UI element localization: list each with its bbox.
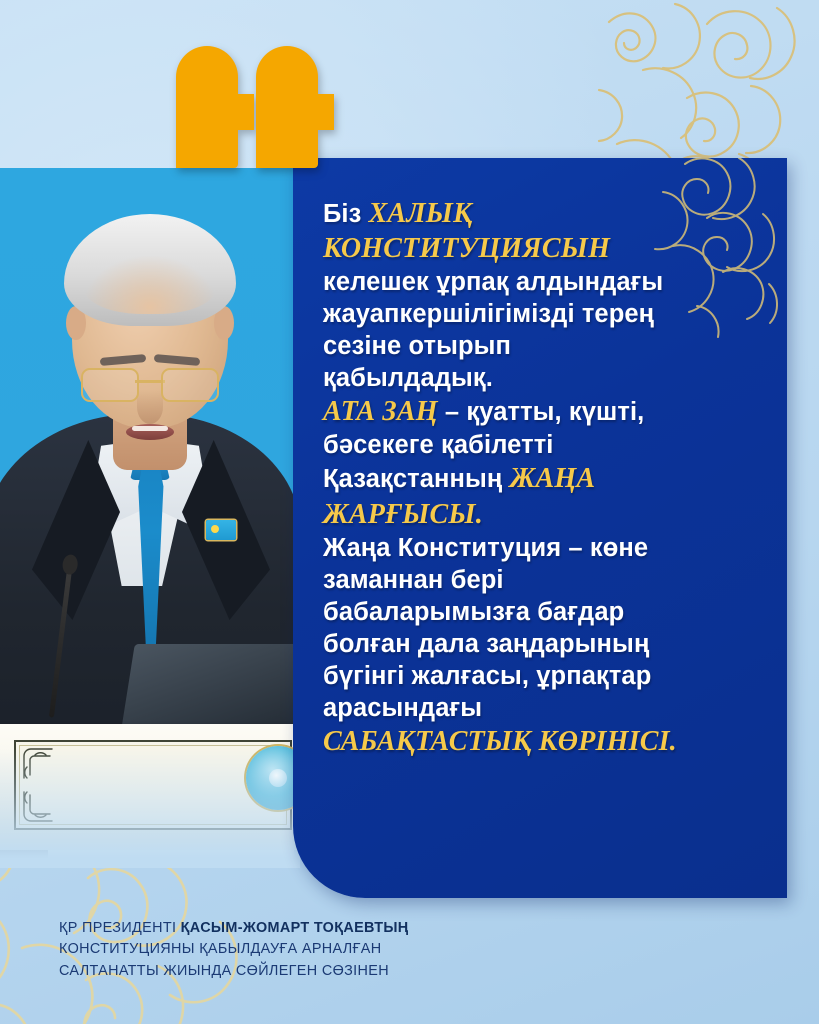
quote-line: заманнан бері	[323, 564, 761, 596]
caption-line-3: САЛТАНАТТЫ ЖИЫНДА СӨЙЛЕГЕН СӨЗІНЕН	[59, 961, 409, 982]
caption-line-2: КОНСТИТУЦИЯНЫ ҚАБЫЛДАУҒА АРНАЛҒАН	[59, 939, 409, 960]
quote-line: ЖАРҒЫСЫ.	[323, 497, 761, 532]
quote-segment: – қуатты, күшті,	[438, 398, 645, 426]
quote-segment-highlight: САБАҚТАСТЫҚ КӨРІНІСІ.	[323, 726, 677, 757]
quote-line: АТА ЗАҢ – қуатты, күшті,	[323, 394, 761, 429]
quote-line: жауапкершілігімізді терең	[323, 298, 761, 330]
eyeglasses-icon	[81, 368, 219, 402]
laptop-screen	[121, 644, 300, 730]
lens-right	[161, 368, 219, 402]
quote-line: бүгінгі жалғасы, ұрпақтар	[323, 660, 761, 692]
double-quote-icon	[176, 46, 322, 168]
attribution-caption: ҚР ПРЕЗИДЕНТІ ҚАСЫМ-ЖОМАРТ ТОҚАЕВТЫҢ КОН…	[59, 918, 409, 982]
eyebrow-left	[100, 354, 147, 366]
quote-line: арасындағы	[323, 692, 761, 724]
quote-notch-left	[220, 94, 254, 130]
quote-line: сезіне отырып	[323, 330, 761, 362]
quote-line: бәсекеге қабілетті	[323, 429, 761, 461]
quote-segment-highlight: КОНСТИТУЦИЯСЫН	[323, 233, 610, 264]
quote-line: келешек ұрпақ алдындағы	[323, 266, 761, 298]
quote-line: Қазақстанның ЖАҢА	[323, 461, 761, 496]
quote-segment: Жаңа Конституция – көне	[323, 534, 648, 562]
quote-line: қабылдадық.	[323, 362, 761, 394]
quote-panel: Біз ХАЛЫҚ КОНСТИТУЦИЯСЫН келешек ұрпақ а…	[293, 158, 787, 898]
quote-line: КОНСТИТУЦИЯСЫН	[323, 231, 761, 266]
quote-notch-right	[300, 94, 334, 130]
caption-role: ҚР ПРЕЗИДЕНТІ	[59, 920, 181, 936]
quote-line: Біз ХАЛЫҚ	[323, 196, 761, 231]
quote-segment: келешек ұрпақ алдындағы	[323, 268, 663, 296]
quote-segment: Біз	[323, 200, 369, 228]
eyebrow-right	[154, 354, 201, 366]
quote-segment-highlight: ЖАРҒЫСЫ.	[323, 499, 483, 530]
quote-segment: бүгінгі жалғасы, ұрпақтар	[323, 662, 651, 690]
quote-line: Жаңа Конституция – көне	[323, 532, 761, 564]
quote-segment-highlight: ЖАҢА	[510, 463, 596, 494]
caption-line-1: ҚР ПРЕЗИДЕНТІ ҚАСЫМ-ЖОМАРТ ТОҚАЕВТЫҢ	[59, 918, 409, 939]
quote-segment: арасындағы	[323, 694, 482, 722]
quote-segment: сезіне отырып	[323, 332, 511, 360]
quote-segment: Қазақстанның	[323, 465, 510, 493]
photo-bottom-fade	[0, 748, 300, 868]
quote-segment: заманнан бері	[323, 566, 504, 594]
quote-line: бабаларымызға бағдар	[323, 596, 761, 628]
quote-line: болған дала заңдарының	[323, 628, 761, 660]
quote-segment: қабылдадық.	[323, 364, 493, 392]
quote-segment: жауапкершілігімізді терең	[323, 300, 654, 328]
mouth	[126, 424, 174, 440]
quote-segment: бабаларымызға бағдар	[323, 598, 624, 626]
quote-segment: болған дала заңдарының	[323, 630, 649, 658]
quote-segment: бәсекеге қабілетті	[323, 431, 553, 459]
lens-left	[81, 368, 139, 402]
poster-canvas: Біз ХАЛЫҚ КОНСТИТУЦИЯСЫН келешек ұрпақ а…	[0, 0, 819, 1024]
president-portrait-photo	[0, 168, 300, 868]
caption-name: ҚАСЫМ-ЖОМАРТ ТОҚАЕВТЫҢ	[181, 920, 409, 936]
quote-segment-highlight: ХАЛЫҚ	[369, 198, 473, 229]
quote-line: САБАҚТАСТЫҚ КӨРІНІСІ.	[323, 724, 761, 759]
quote-text: Біз ХАЛЫҚ КОНСТИТУЦИЯСЫН келешек ұрпақ а…	[323, 196, 761, 759]
quote-segment-highlight: АТА ЗАҢ	[323, 396, 438, 427]
kazakhstan-flag-pin-icon	[206, 520, 236, 540]
